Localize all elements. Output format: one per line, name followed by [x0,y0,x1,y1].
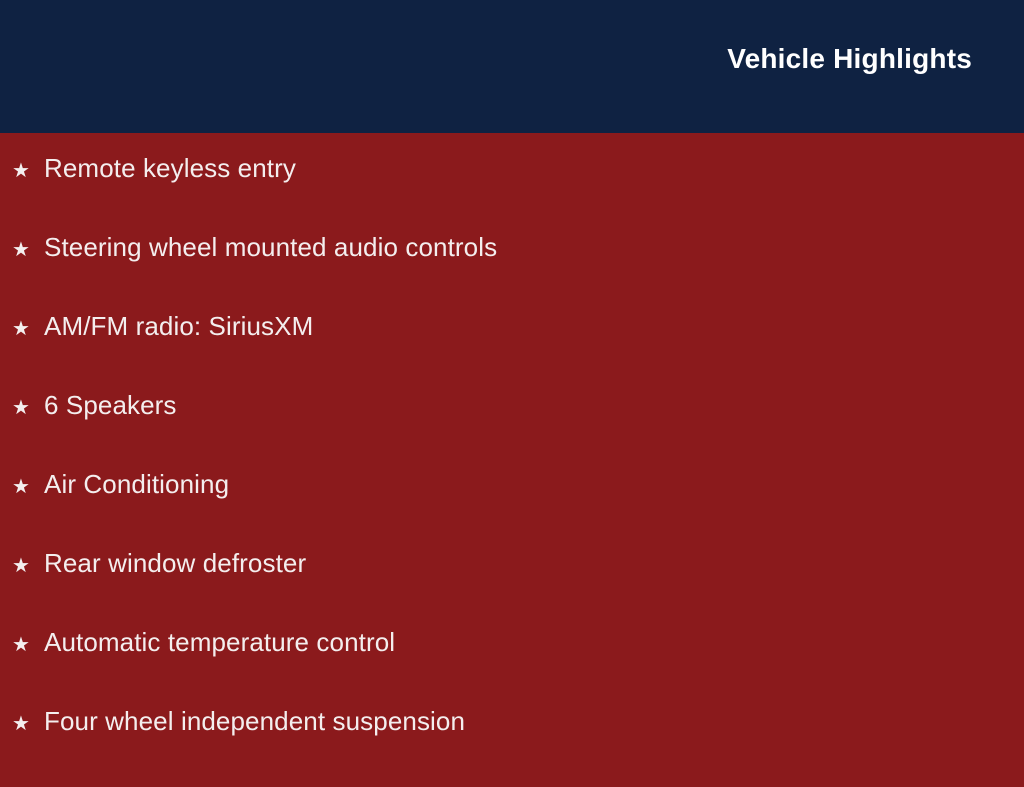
star-bullet-icon: ★ [12,240,44,260]
slide-header-band: Vehicle Highlights [0,0,1024,133]
star-bullet-icon: ★ [12,398,44,418]
star-bullet-icon: ★ [12,319,44,339]
list-item: ★ Steering wheel mounted audio controls [0,234,1024,313]
star-bullet-icon: ★ [12,477,44,497]
feature-label: Automatic temperature control [44,629,395,655]
star-bullet-icon: ★ [12,556,44,576]
list-item: ★ Rear window defroster [0,550,1024,629]
feature-label: Rear window defroster [44,550,306,576]
list-item: ★ Automatic temperature control [0,629,1024,708]
list-item: ★ AM/FM radio: SiriusXM [0,313,1024,392]
list-item: ★ Remote keyless entry [0,155,1024,234]
star-bullet-icon: ★ [12,635,44,655]
star-bullet-icon: ★ [12,714,44,734]
page-title: Vehicle Highlights [727,44,972,75]
list-item: ★ Four wheel independent suspension [0,708,1024,787]
list-item: ★ 6 Speakers [0,392,1024,471]
vehicle-feature-list: ★ Remote keyless entry ★ Steering wheel … [0,133,1024,787]
feature-label: Four wheel independent suspension [44,708,465,734]
slide-body: ★ Remote keyless entry ★ Steering wheel … [0,133,1024,768]
feature-label: Air Conditioning [44,471,229,497]
feature-label: AM/FM radio: SiriusXM [44,313,313,339]
feature-label: Steering wheel mounted audio controls [44,234,497,260]
star-bullet-icon: ★ [12,161,44,181]
vehicle-highlights-slide: Vehicle Highlights ★ Remote keyless entr… [0,0,1024,768]
feature-label: Remote keyless entry [44,155,296,181]
list-item: ★ Air Conditioning [0,471,1024,550]
feature-label: 6 Speakers [44,392,177,418]
